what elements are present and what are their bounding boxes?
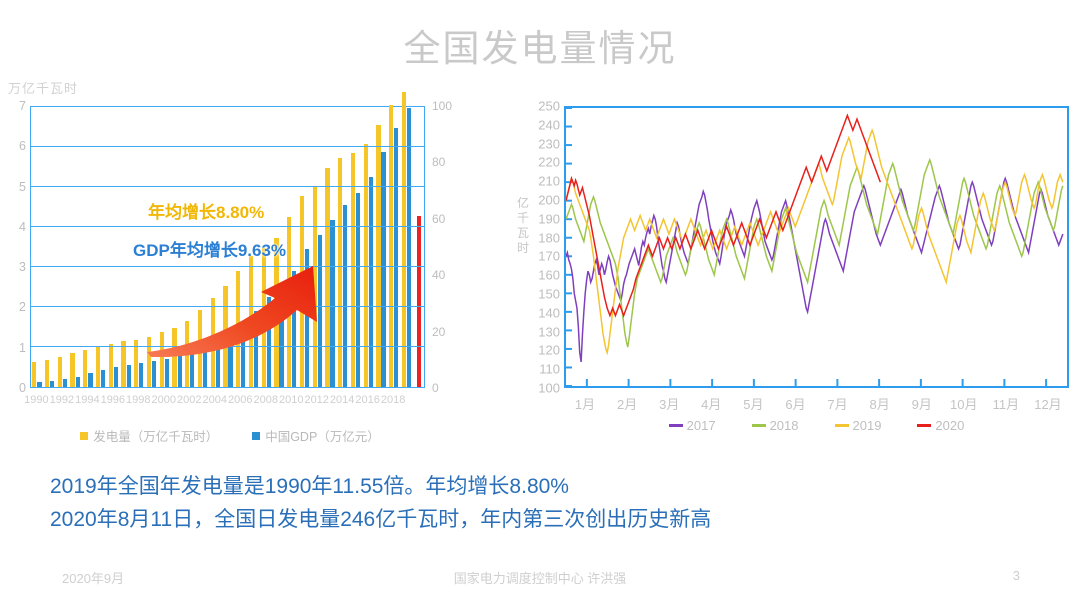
bar-gdp [50,381,54,387]
footer-org: 国家电力调度控制中心 许洪强 [0,568,1080,587]
left-chart-legend: 发电量（万亿千瓦时） 中国GDP（万亿元） [30,426,430,445]
x-tick-label: 2004 [203,394,227,406]
bar-group [413,107,426,387]
bar-group [375,107,388,387]
bar-group [31,107,44,387]
x-tick-label: 11月 [993,394,1020,413]
x-tick-label: 1990 [24,394,48,406]
bar-gdp [356,193,360,387]
line-series-container [566,108,1067,386]
x-tick-label: 2014 [330,394,354,406]
legend-swatch-gdp [252,432,260,440]
bar-generation [402,92,406,387]
bar-generation [376,125,380,387]
bar-gdp [37,382,41,387]
line-series-2020 [566,115,880,315]
bar-2020-partial [417,216,421,387]
x-tick-label: 1998 [126,394,150,406]
x-tick-label: 8月 [870,394,890,413]
bar-gdp [152,361,156,387]
y-tick-label: 150 [528,287,560,302]
secondary-y-tick-label: 80 [432,155,458,169]
bar-generation [389,105,393,387]
annotation-gdp-growth: GDP年均增长9.63% [133,236,286,261]
y-tick-label: 4 [6,220,26,234]
x-tick-label: 1996 [101,394,125,406]
x-tick-label: 1992 [50,394,74,406]
bar-group [82,107,95,387]
y-tick-label: 160 [528,268,560,283]
y-tick-label: 230 [528,136,560,151]
bar-gdp [381,152,385,387]
secondary-y-tick-label: 60 [432,212,458,226]
bar-group [388,107,401,387]
y-tick-label: 7 [6,99,26,113]
bar-group [44,107,57,387]
summary-text: 2019年全国年发电量是1990年11.55倍。年均增长8.80% 2020年8… [50,470,1010,536]
y-tick-label: 110 [528,362,560,377]
legend-item-2017: 2017 [669,418,716,433]
bar-generation [32,362,36,387]
x-tick-label: 1994 [75,394,99,406]
page-title: 全国发电量情况 [0,18,1080,72]
secondary-y-tick-label: 100 [432,99,458,113]
y-tick-label: 220 [528,155,560,170]
left-axis-unit-label: 万亿千瓦时 [8,78,78,97]
growth-arrow-icon [145,264,355,359]
y-tick-label: 120 [528,343,560,358]
y-tick-label: 2 [6,300,26,314]
legend-swatch-2018 [752,424,766,427]
bar-gdp [101,370,105,387]
bar-gdp [394,128,398,387]
y-tick-label: 250 [528,99,560,114]
gridline [31,186,424,187]
bar-generation [121,341,125,387]
y-tick-label: 140 [528,305,560,320]
bar-group [120,107,133,387]
bar-gdp [139,363,143,387]
bar-gdp [114,367,118,387]
legend-label-generation: 发电量（万亿千瓦时） [93,426,218,445]
y-tick-label: 130 [528,324,560,339]
page-number: 3 [1013,568,1020,583]
bar-group [107,107,120,387]
y-tick-label: 180 [528,230,560,245]
bar-group [401,107,414,387]
bar-gdp [369,177,373,387]
secondary-y-tick-label: 20 [432,325,458,339]
annotation-avg-growth: 年均增长8.80% [148,198,264,223]
legend-label-2018: 2018 [770,418,799,433]
x-tick-label: 5月 [743,394,763,413]
legend-item-generation: 发电量（万亿千瓦时） [80,426,218,445]
legend-item-2020: 2020 [917,418,964,433]
x-tick-label: 2008 [253,394,277,406]
x-tick-label: 1月 [575,394,595,413]
bar-gdp [127,365,131,387]
x-tick-label: 2000 [152,394,176,406]
y-tick-label: 190 [528,211,560,226]
legend-swatch-generation [80,432,88,440]
x-tick-label: 2018 [381,394,405,406]
legend-item-gdp: 中国GDP（万亿元） [252,426,380,445]
bar-generation [134,340,138,387]
y-tick-label: 0 [6,381,26,395]
y-tick-label: 240 [528,117,560,132]
x-tick-label: 2010 [279,394,303,406]
bar-gdp [165,359,169,387]
bar-generation [58,357,62,387]
x-tick-label: 10月 [950,394,977,413]
x-tick-label: 2002 [177,394,201,406]
slide: 全国发电量情况 万亿千瓦时 01234567 020406080100 1990… [0,0,1080,608]
x-tick-label: 7月 [827,394,847,413]
y-tick-label: 5 [6,180,26,194]
gridline [31,146,424,147]
y-tick-label: 6 [6,139,26,153]
legend-swatch-2019 [835,424,849,427]
bar-generation [70,353,74,387]
legend-label-2019: 2019 [853,418,882,433]
y-tick-label: 3 [6,260,26,274]
x-tick-label: 2月 [617,394,637,413]
bar-generation [83,350,87,387]
bar-group [69,107,82,387]
legend-label-2020: 2020 [935,418,964,433]
generation-gdp-bar-chart: 万亿千瓦时 01234567 020406080100 199019921994… [0,78,510,438]
legend-item-2019: 2019 [835,418,882,433]
legend-item-2018: 2018 [752,418,799,433]
bar-generation [109,344,113,388]
secondary-y-tick-label: 0 [432,381,458,395]
x-tick-label: 3月 [659,394,679,413]
y-tick-label: 210 [528,174,560,189]
x-tick-label: 2016 [355,394,379,406]
bar-group [56,107,69,387]
legend-label-2017: 2017 [687,418,716,433]
legend-swatch-2020 [917,424,931,427]
bar-generation [45,360,49,387]
bar-generation [96,346,100,387]
bar-gdp [88,373,92,387]
y-tick-label: 100 [528,381,560,396]
bar-group [362,107,375,387]
slide-footer: 2020年9月 国家电力调度控制中心 许洪强 3 [0,568,1080,596]
summary-line-1: 2019年全国年发电量是1990年11.55倍。年均增长8.80% [50,470,1010,503]
line-plot-area [564,106,1069,388]
x-tick-label: 2012 [304,394,328,406]
bar-gdp [178,356,182,387]
summary-line-2: 2020年8月11日，全国日发电量246亿千瓦时，年内第三次创出历史新高 [50,503,1010,536]
x-tick-label: 2006 [228,394,252,406]
x-tick-label: 4月 [701,394,721,413]
legend-swatch-2017 [669,424,683,427]
right-chart-legend: 2017201820192020 [564,418,1069,433]
x-tick-label: 12月 [1034,394,1061,413]
x-tick-label: 9月 [912,394,932,413]
x-tick-label: 6月 [785,394,805,413]
y-tick-label: 170 [528,249,560,264]
bar-gdp [63,379,67,387]
daily-generation-line-chart: 亿千瓦时 10011012013014015016017018019020021… [512,78,1080,438]
y-tick-label: 200 [528,193,560,208]
y-tick-label: 1 [6,341,26,355]
secondary-y-tick-label: 40 [432,268,458,282]
legend-label-gdp: 中国GDP（万亿元） [265,426,380,445]
bar-group [95,107,108,387]
bar-gdp [76,377,80,387]
gridline [31,226,424,227]
